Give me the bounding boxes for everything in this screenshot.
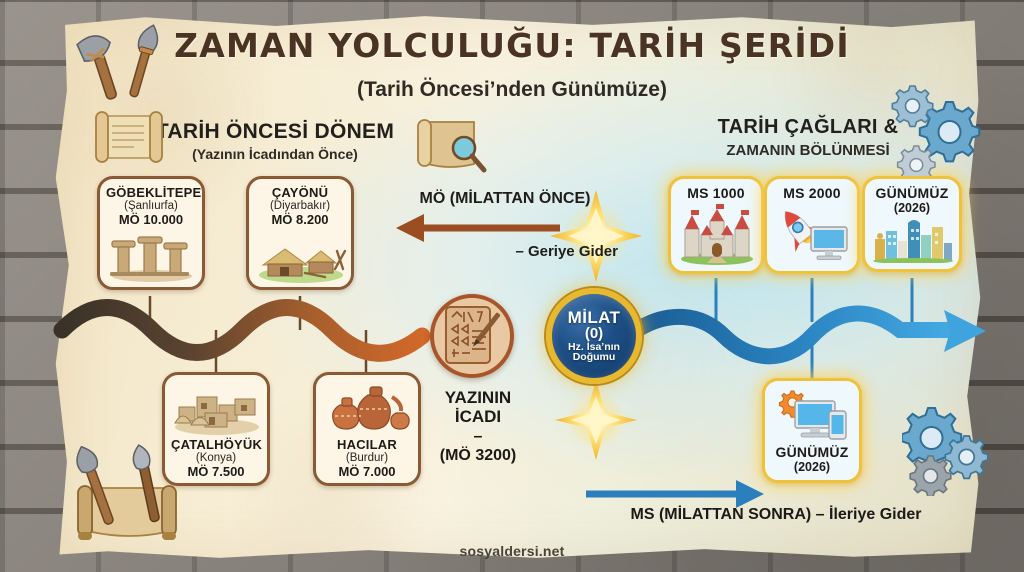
card-ms-2000-name: MS 2000 [773, 185, 851, 201]
card-cayonu-date: MÖ 8.200 [255, 212, 345, 227]
card-gunumuz-top-name: GÜNÜMÜZ [871, 185, 953, 201]
castle-icon [677, 203, 757, 265]
monitor-phone-gear-icon [771, 389, 853, 443]
writing-invention-token[interactable] [430, 294, 514, 378]
card-gunumuz-bottom-name: GÜNÜMÜZ [771, 444, 853, 460]
card-gunumuz-bottom[interactable]: GÜNÜMÜZ (2026) [762, 378, 862, 483]
infographic-canvas: ZAMAN YOLCULUĞU: TARİH ŞERİDİ (Tarih Önc… [0, 0, 1024, 572]
card-gobeklitepe[interactable]: GÖBEKLİTEPE (Şanlıurfa) MÖ 10.000 [97, 176, 205, 290]
card-ms-2000[interactable]: MS 2000 [764, 176, 860, 274]
milat-name: MİLAT [568, 309, 621, 327]
stone-axe-spear-icon [62, 22, 182, 108]
writing-dash: – [398, 428, 558, 446]
huts-icon [255, 229, 347, 283]
card-cayonu[interactable]: ÇAYÖNÜ (Diyarbakır) MÖ 8.200 [246, 176, 354, 290]
card-cayonu-place: (Diyarbakır) [255, 200, 345, 212]
card-cayonu-name: ÇAYÖNÜ [255, 185, 345, 200]
bc-arrow-label: MÖ (MİLATTAN ÖNCE) [392, 190, 618, 208]
card-ms-1000[interactable]: MS 1000 [668, 176, 764, 274]
writing-line1: YAZININ [445, 388, 511, 407]
mudbrick-houses-icon [171, 383, 263, 435]
cuneiform-tablet-icon [444, 305, 500, 367]
writing-invention-label: YAZININ İCADI – (MÖ 3200) [398, 388, 558, 465]
card-gobeklitepe-name: GÖBEKLİTEPE [106, 185, 196, 200]
section-heading-prehistory: TARİH ÖNCESİ DÖNEM (Yazının İcadından Ön… [150, 120, 400, 162]
card-hacilar-date: MÖ 7.000 [322, 464, 412, 479]
card-gobeklitepe-date: MÖ 10.000 [106, 212, 196, 227]
pillars-icon [106, 229, 198, 283]
card-gunumuz-bottom-place: (2026) [771, 460, 853, 474]
city-skyline-icon [871, 217, 955, 263]
bc-arrow-sublabel: – Geriye Gider [404, 243, 618, 260]
gears-icon-top [888, 84, 992, 176]
card-ms-1000-name: MS 1000 [677, 185, 755, 201]
writing-line2: İCADI [455, 407, 501, 426]
scroll-icon-left [92, 108, 166, 166]
card-gunumuz-top-place: (2026) [871, 201, 953, 215]
milat-year: (0) [585, 326, 603, 341]
card-gobeklitepe-place: (Şanlıurfa) [106, 200, 196, 212]
section-heading-prehistory-subtitle: (Yazının İcadından Önce) [150, 146, 400, 162]
writing-year: (MÖ 3200) [398, 447, 558, 465]
milat-desc-line2: Doğumu [573, 352, 616, 363]
gears-icon-bottom [902, 404, 998, 496]
scroll-magnifier-icon [414, 112, 492, 178]
ad-arrow-label: MS (MİLATTAN SONRA) – İleriye Gider [576, 506, 976, 524]
scrolls-spears-icon [58, 444, 204, 556]
card-gunumuz-top[interactable]: GÜNÜMÜZ (2026) [862, 176, 962, 272]
section-heading-prehistory-title: TARİH ÖNCESİ DÖNEM [150, 120, 400, 144]
milat-node[interactable]: MİLAT (0) Hz. İsa’nın Doğumu [546, 288, 642, 384]
rocket-computer-icon [773, 203, 853, 265]
